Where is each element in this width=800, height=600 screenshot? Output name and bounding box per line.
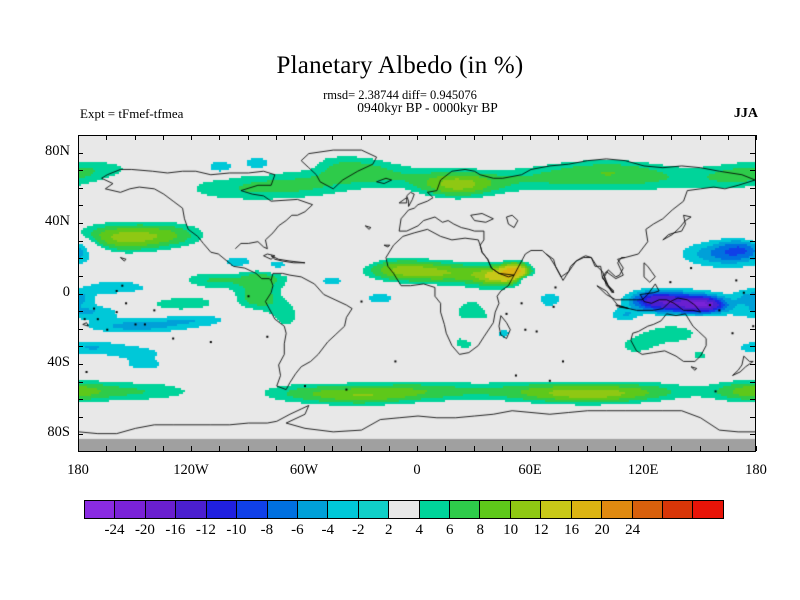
x-minor-tick — [671, 135, 672, 140]
x-minor-tick — [276, 135, 277, 140]
y-minor-tick — [750, 311, 755, 312]
y-minor-tick — [78, 276, 83, 277]
y-minor-tick — [78, 205, 83, 206]
y-minor-tick — [78, 434, 83, 435]
x-axis-label-120W: 120W — [156, 462, 226, 479]
y-axis-label-0: 0 — [24, 284, 70, 301]
x-minor-tick — [163, 135, 164, 140]
y-minor-tick — [750, 276, 755, 277]
x-minor-tick — [163, 446, 164, 451]
x-minor-tick — [445, 446, 446, 451]
y-minor-tick — [750, 417, 755, 418]
colorbar-swatch-7 — [298, 501, 328, 518]
x-minor-tick — [135, 446, 136, 451]
x-minor-tick — [756, 135, 757, 140]
x-minor-tick — [728, 446, 729, 451]
x-minor-tick — [558, 446, 559, 451]
x-axis-label-120E: 120E — [608, 462, 678, 479]
albedo-anomaly-map — [79, 136, 756, 452]
colorbar — [84, 500, 724, 519]
y-minor-tick — [750, 346, 755, 347]
y-minor-tick — [78, 170, 83, 171]
colorbar-tick-24: 24 — [608, 522, 658, 539]
colorbar-swatch-14 — [511, 501, 541, 518]
x-minor-tick — [615, 135, 616, 140]
x-minor-tick — [530, 135, 531, 140]
y-minor-tick — [78, 311, 83, 312]
x-minor-tick — [445, 135, 446, 140]
x-minor-tick — [78, 446, 79, 451]
x-minor-tick — [361, 446, 362, 451]
x-minor-tick — [502, 135, 503, 140]
y-minor-tick — [78, 223, 83, 224]
colorbar-swatch-1 — [115, 501, 145, 518]
x-minor-tick — [474, 135, 475, 140]
colorbar-swatch-17 — [602, 501, 632, 518]
x-minor-tick — [219, 446, 220, 451]
x-minor-tick — [191, 135, 192, 140]
x-minor-tick — [671, 446, 672, 451]
y-minor-tick — [78, 258, 83, 259]
x-minor-tick — [304, 446, 305, 451]
x-minor-tick — [191, 446, 192, 451]
y-minor-tick — [750, 399, 755, 400]
colorbar-swatch-18 — [633, 501, 663, 518]
y-minor-tick — [78, 294, 83, 295]
y-minor-tick — [750, 329, 755, 330]
x-minor-tick — [106, 446, 107, 451]
x-minor-tick — [615, 446, 616, 451]
x-minor-tick — [135, 135, 136, 140]
y-minor-tick — [750, 294, 755, 295]
x-axis-label-180: 180 — [721, 462, 791, 479]
x-minor-tick — [248, 135, 249, 140]
x-minor-tick — [643, 135, 644, 140]
colorbar-swatch-16 — [572, 501, 602, 518]
y-minor-tick — [78, 364, 83, 365]
colorbar-swatch-3 — [176, 501, 206, 518]
x-minor-tick — [643, 446, 644, 451]
colorbar-swatch-2 — [146, 501, 176, 518]
x-minor-tick — [417, 135, 418, 140]
y-minor-tick — [750, 241, 755, 242]
colorbar-swatch-5 — [237, 501, 267, 518]
experiment-label: Expt = tFmef-tfmea — [80, 106, 183, 122]
x-minor-tick — [587, 135, 588, 140]
y-axis-label-40N: 40N — [24, 213, 70, 230]
colorbar-swatch-11 — [420, 501, 450, 518]
y-minor-tick — [750, 153, 755, 154]
x-minor-tick — [474, 446, 475, 451]
colorbar-swatch-8 — [328, 501, 358, 518]
x-minor-tick — [78, 135, 79, 140]
colorbar-swatch-9 — [359, 501, 389, 518]
x-minor-tick — [276, 446, 277, 451]
y-minor-tick — [750, 188, 755, 189]
y-minor-tick — [750, 205, 755, 206]
x-minor-tick — [587, 446, 588, 451]
y-minor-tick — [78, 329, 83, 330]
x-minor-tick — [219, 135, 220, 140]
y-minor-tick — [750, 364, 755, 365]
colorbar-swatch-12 — [450, 501, 480, 518]
y-axis-label-80N: 80N — [24, 143, 70, 160]
y-minor-tick — [78, 241, 83, 242]
x-minor-tick — [417, 446, 418, 451]
x-minor-tick — [728, 135, 729, 140]
y-minor-tick — [750, 382, 755, 383]
y-minor-tick — [78, 346, 83, 347]
x-minor-tick — [700, 135, 701, 140]
y-minor-tick — [78, 153, 83, 154]
colorbar-swatch-0 — [85, 501, 115, 518]
colorbar-swatch-13 — [480, 501, 510, 518]
y-minor-tick — [78, 417, 83, 418]
x-minor-tick — [332, 135, 333, 140]
y-minor-tick — [78, 188, 83, 189]
page-title: Planetary Albedo (in %) — [0, 52, 800, 80]
season-label: JJA — [734, 106, 758, 122]
y-axis-label-80S: 80S — [24, 424, 70, 441]
y-minor-tick — [750, 258, 755, 259]
y-axis-label-40S: 40S — [24, 354, 70, 371]
colorbar-swatch-15 — [541, 501, 571, 518]
x-minor-tick — [106, 135, 107, 140]
figure-root: Planetary Albedo (in %) rmsd= 2.38744 di… — [0, 0, 800, 600]
colorbar-swatch-4 — [207, 501, 237, 518]
colorbar-swatch-6 — [268, 501, 298, 518]
x-minor-tick — [332, 446, 333, 451]
x-axis-label-0: 0 — [382, 462, 452, 479]
y-minor-tick — [78, 399, 83, 400]
x-minor-tick — [502, 446, 503, 451]
x-minor-tick — [361, 135, 362, 140]
x-axis-label-60E: 60E — [495, 462, 565, 479]
colorbar-swatch-19 — [663, 501, 693, 518]
y-minor-tick — [78, 382, 83, 383]
y-minor-tick — [750, 434, 755, 435]
y-minor-tick — [750, 223, 755, 224]
colorbar-swatch-20 — [693, 501, 722, 518]
map-plot-area — [78, 135, 756, 452]
x-minor-tick — [304, 135, 305, 140]
y-minor-tick — [750, 170, 755, 171]
x-minor-tick — [248, 446, 249, 451]
x-axis-label-60W: 60W — [269, 462, 339, 479]
x-minor-tick — [700, 446, 701, 451]
x-minor-tick — [756, 446, 757, 451]
x-axis-label-180: 180 — [43, 462, 113, 479]
colorbar-swatch-10 — [389, 501, 419, 518]
x-minor-tick — [530, 446, 531, 451]
x-minor-tick — [389, 135, 390, 140]
x-minor-tick — [558, 135, 559, 140]
x-minor-tick — [389, 446, 390, 451]
